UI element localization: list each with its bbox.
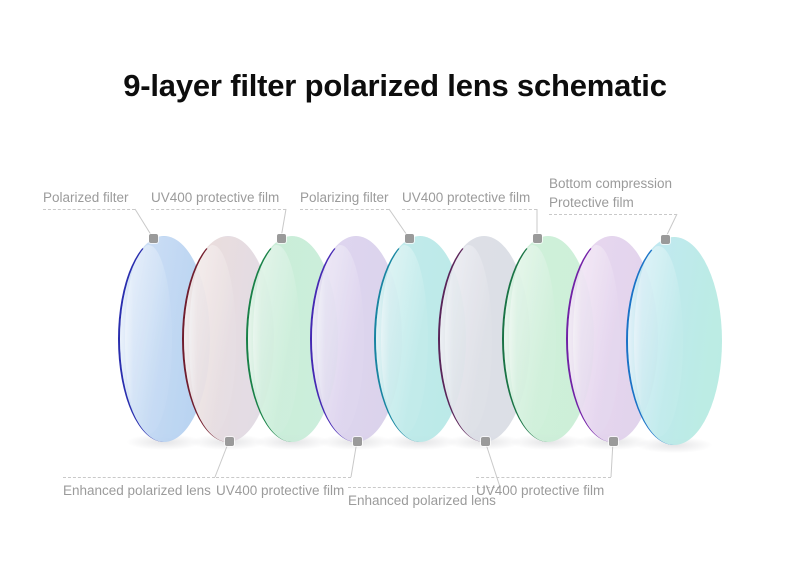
callout-text: UV400 protective film [151, 188, 286, 207]
dot-lens-7 [533, 234, 542, 243]
callout-text-line2: Protective film [549, 193, 677, 212]
dot-lens-9 [661, 235, 670, 244]
callout-text: UV400 protective film [476, 481, 611, 500]
callout-polarized-filter: Polarized filter [43, 188, 135, 210]
dot-lens-6 [481, 437, 490, 446]
dot-lens-3 [277, 234, 286, 243]
dot-lens-8 [609, 437, 618, 446]
callout-uv400-film-top-2: UV400 protective film [402, 188, 537, 210]
callout-uv400-film-bot-2: UV400 protective film [476, 477, 611, 500]
dot-lens-2 [225, 437, 234, 446]
callout-uv400-film-top-1: UV400 protective film [151, 188, 286, 210]
lens-sheen [317, 245, 364, 434]
lens-sheen [509, 245, 556, 434]
lens-disc [626, 237, 722, 445]
callout-uv400-film-bot-1: UV400 protective film [216, 477, 351, 500]
callout-text: Bottom compression [549, 174, 677, 193]
callout-bottom-compression-film: Bottom compressionProtective film [549, 174, 677, 215]
lens-edge-highlight [120, 243, 134, 436]
callout-text: UV400 protective film [402, 188, 537, 207]
lens-sheen [253, 245, 300, 434]
lens-sheen [189, 245, 236, 434]
lens-sheen [445, 245, 492, 434]
lens-layer-9 [626, 237, 722, 445]
callout-text: UV400 protective film [216, 481, 351, 500]
lens-sheen [381, 245, 428, 434]
dot-lens-1 [149, 234, 158, 243]
callout-text: Enhanced polarized lens [63, 481, 215, 500]
lens-sheen [573, 245, 620, 434]
callout-enhanced-lens-1: Enhanced polarized lens [63, 477, 215, 500]
dot-lens-4 [353, 437, 362, 446]
callout-polarizing-filter: Polarizing filter [300, 188, 389, 210]
lens-sheen [125, 245, 172, 434]
dot-lens-5 [405, 234, 414, 243]
lens-schematic-diagram: Polarized filterUV400 protective filmPol… [0, 0, 790, 561]
callout-text: Polarizing filter [300, 188, 389, 207]
callout-text: Polarized filter [43, 188, 135, 207]
lens-sheen [634, 246, 683, 436]
